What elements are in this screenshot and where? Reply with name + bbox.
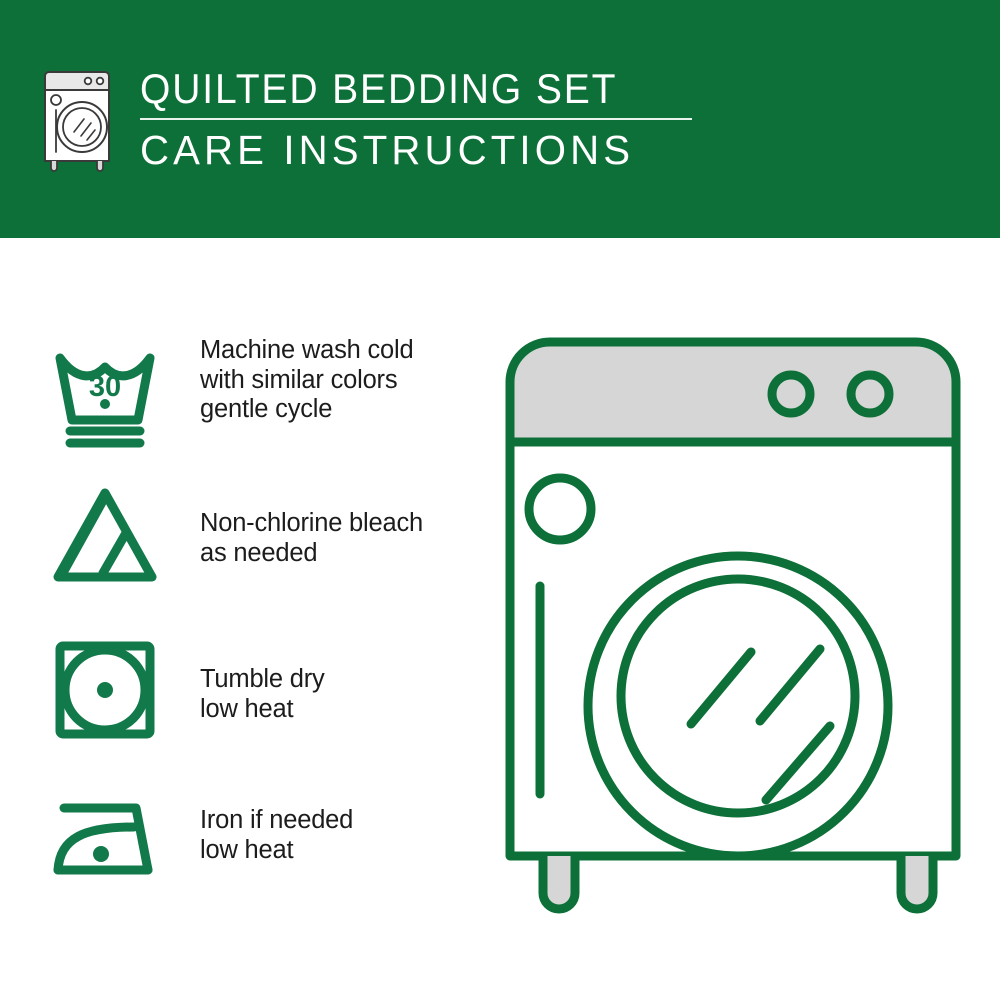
wash-dot-icon bbox=[100, 399, 110, 409]
washing-machine-icon bbox=[44, 68, 110, 172]
care-instructions-infographic: QUILTED BEDDING SET CARE INSTRUCTIONS 30 bbox=[0, 0, 1000, 1000]
page-subtitle: CARE INSTRUCTIONS bbox=[140, 127, 689, 173]
wash-temperature-label: 30 bbox=[89, 371, 121, 403]
content-area: 30 Machine wash cold with similar colors… bbox=[0, 238, 1000, 1000]
dispenser-circle bbox=[529, 478, 591, 540]
care-item-iron: Iron if needed low heat bbox=[46, 786, 353, 895]
dry-heat-dot-icon bbox=[97, 682, 113, 698]
care-item-label: Machine wash cold with similar colors ge… bbox=[200, 336, 413, 425]
tumble-dry-icon bbox=[46, 638, 164, 747]
foot-left bbox=[543, 856, 575, 909]
care-item-label: Tumble dry low heat bbox=[200, 665, 325, 724]
iron-heat-dot-icon bbox=[93, 846, 109, 862]
care-item-bleach: Non-chlorine bleach as needed bbox=[46, 483, 423, 592]
header-banner: QUILTED BEDDING SET CARE INSTRUCTIONS bbox=[0, 0, 1000, 238]
foot-right bbox=[901, 856, 933, 909]
iron-icon bbox=[46, 786, 164, 895]
door-inner-ring bbox=[621, 579, 855, 813]
care-item-tumble-dry: Tumble dry low heat bbox=[46, 638, 325, 747]
care-item-label: Non-chlorine bleach as needed bbox=[200, 509, 423, 568]
washing-machine-illustration bbox=[498, 334, 968, 934]
knob-left bbox=[772, 375, 810, 413]
care-item-label: Iron if needed low heat bbox=[200, 806, 353, 865]
care-symbol-list: 30 Machine wash cold with similar colors… bbox=[0, 238, 500, 1000]
care-item-wash: 30 Machine wash cold with similar colors… bbox=[46, 346, 413, 455]
title-divider bbox=[140, 118, 692, 120]
knob-right bbox=[851, 375, 889, 413]
wash-tub-icon: 30 bbox=[46, 346, 164, 455]
header-title-block: QUILTED BEDDING SET CARE INSTRUCTIONS bbox=[140, 66, 700, 173]
bleach-triangle-icon bbox=[46, 483, 164, 592]
page-title: QUILTED BEDDING SET bbox=[140, 66, 661, 112]
